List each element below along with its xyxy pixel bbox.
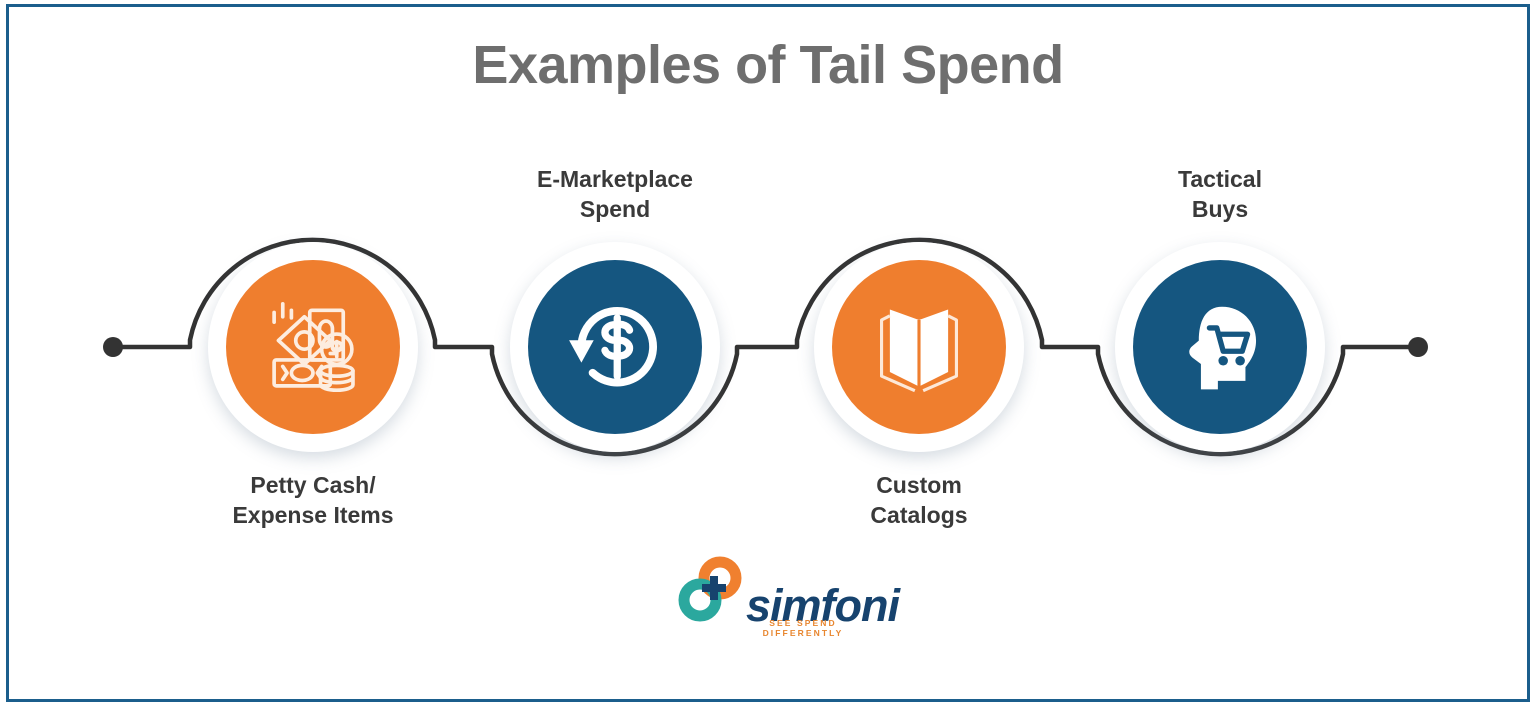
flow-node-custom-catalogs[interactable]: Custom Catalogs	[814, 242, 1024, 452]
simfoni-tagline: SEE SPEND DIFFERENTLY	[728, 618, 878, 638]
infographic-canvas: Examples of Tail Spend	[0, 0, 1536, 706]
node-disc	[226, 260, 400, 434]
flow-node-petty-cash[interactable]: Petty Cash/ Expense Items	[208, 242, 418, 452]
node-label: Custom Catalogs	[754, 470, 1084, 530]
head-shopping-cart-icon	[1167, 294, 1273, 400]
node-label: E-Marketplace Spend	[450, 164, 780, 224]
simfoni-logo[interactable]: simfoni SEE SPEND DIFFERENTLY	[668, 556, 878, 646]
node-disc	[832, 260, 1006, 434]
open-book-icon	[867, 295, 971, 399]
node-disc	[528, 260, 702, 434]
node-label: Petty Cash/ Expense Items	[148, 470, 478, 530]
node-label: Tactical Buys	[1055, 164, 1385, 224]
flow-node-emarketplace[interactable]: E-Marketplace Spend	[510, 242, 720, 452]
flow-node-tactical-buys[interactable]: Tactical Buys	[1115, 242, 1325, 452]
cash-coins-icon	[259, 293, 367, 401]
node-disc	[1133, 260, 1307, 434]
connector-endpoint-right	[1408, 337, 1428, 357]
connector-endpoint-left	[103, 337, 123, 357]
dollar-refresh-icon	[559, 291, 671, 403]
